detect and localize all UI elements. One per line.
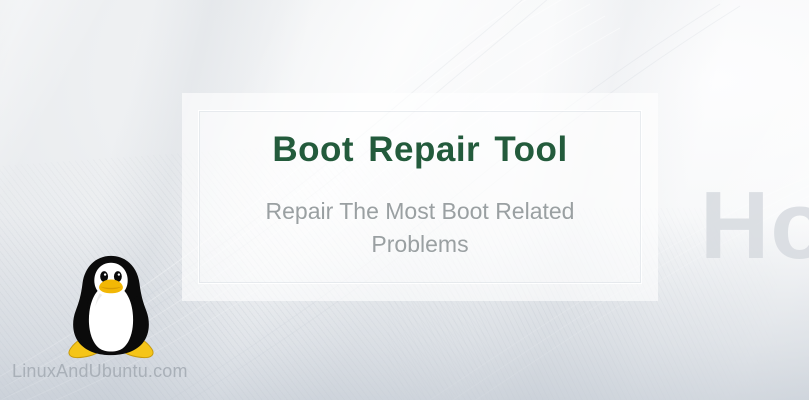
site-watermark: LinuxAndUbuntu.com <box>12 361 188 382</box>
page-subtitle: Repair The Most Boot Related Problems <box>220 195 620 262</box>
ghost-watermark-text: Ho <box>700 178 809 274</box>
banner-image: Ho Boot Repair Tool Repair The Most Boot… <box>0 0 809 400</box>
page-title: Boot Repair Tool <box>272 132 567 169</box>
headline-card: Boot Repair Tool Repair The Most Boot Re… <box>182 93 658 301</box>
tux-penguin-icon <box>62 251 160 361</box>
headline-card-inner-frame: Boot Repair Tool Repair The Most Boot Re… <box>198 110 642 284</box>
